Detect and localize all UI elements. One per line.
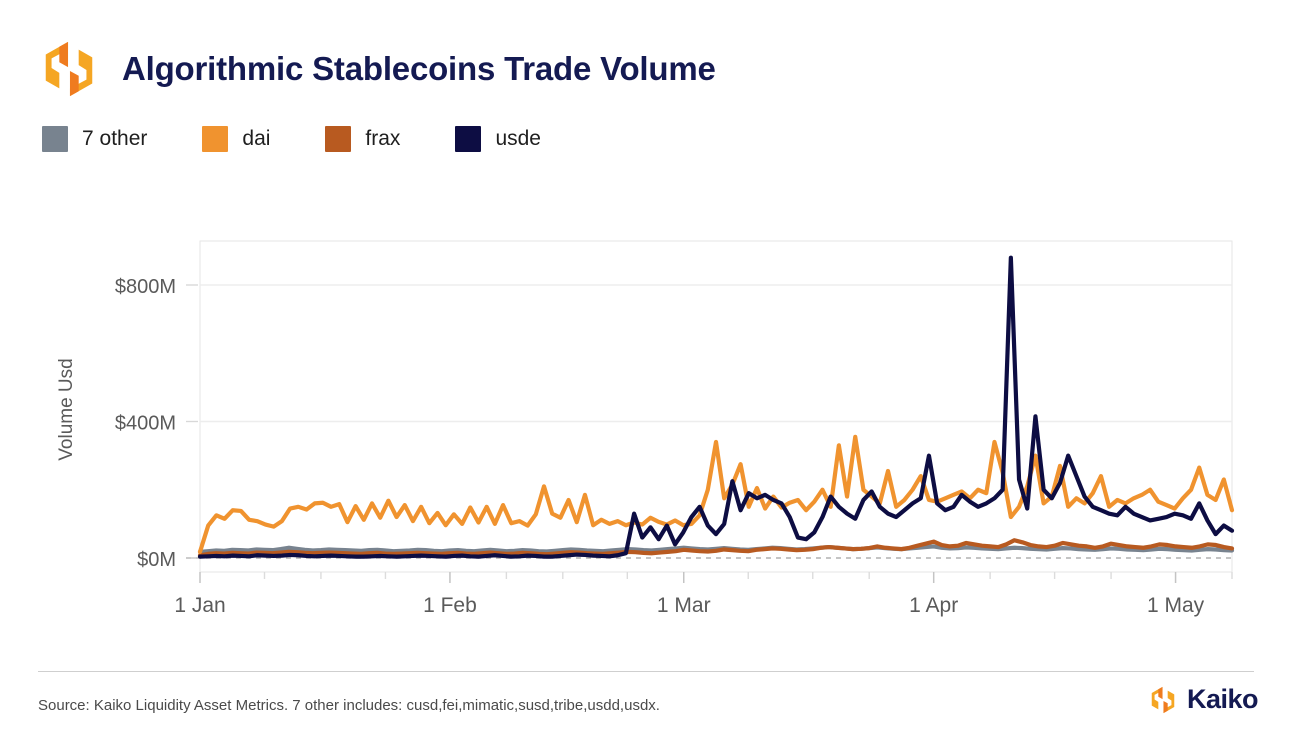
plot-frame [200, 241, 1232, 572]
chart-legend: 7 other dai frax usde [0, 100, 1292, 152]
legend-label-usde: usde [495, 127, 541, 151]
line-chart: $0M$400M$800MVolume Usd1 Jan1 Feb1 Mar1 … [0, 214, 1292, 634]
x-tick-label: 1 Jan [174, 594, 225, 617]
chart-container: $0M$400M$800MVolume Usd1 Jan1 Feb1 Mar1 … [0, 214, 1292, 634]
legend-item-frax[interactable]: frax [325, 126, 400, 152]
legend-label-frax: frax [365, 127, 400, 151]
kaiko-hex-logo-icon [1148, 685, 1178, 715]
footer-brand: Kaiko [1148, 684, 1258, 715]
page-title: Algorithmic Stablecoins Trade Volume [122, 50, 716, 88]
page-header: Algorithmic Stablecoins Trade Volume [0, 0, 1292, 100]
y-axis-title: Volume Usd [56, 358, 77, 460]
legend-swatch-dai [202, 126, 228, 152]
source-note: Source: Kaiko Liquidity Asset Metrics. 7… [38, 697, 660, 714]
legend-label-other: 7 other [82, 127, 147, 151]
kaiko-hex-logo-icon [38, 38, 100, 100]
x-tick-label: 1 Apr [909, 594, 958, 617]
legend-item-usde[interactable]: usde [455, 126, 541, 152]
legend-item-other[interactable]: 7 other [42, 126, 147, 152]
legend-label-dai: dai [242, 127, 270, 151]
x-tick-label: 1 May [1147, 594, 1205, 617]
legend-swatch-usde [455, 126, 481, 152]
x-tick-label: 1 Mar [657, 594, 711, 617]
footer-brand-name: Kaiko [1187, 684, 1258, 715]
y-tick-label: $800M [115, 276, 176, 298]
legend-swatch-frax [325, 126, 351, 152]
legend-swatch-other [42, 126, 68, 152]
x-tick-label: 1 Feb [423, 594, 477, 617]
y-tick-label: $0M [137, 549, 176, 571]
footer-divider [38, 671, 1254, 672]
legend-item-dai[interactable]: dai [202, 126, 270, 152]
y-tick-label: $400M [115, 413, 176, 435]
